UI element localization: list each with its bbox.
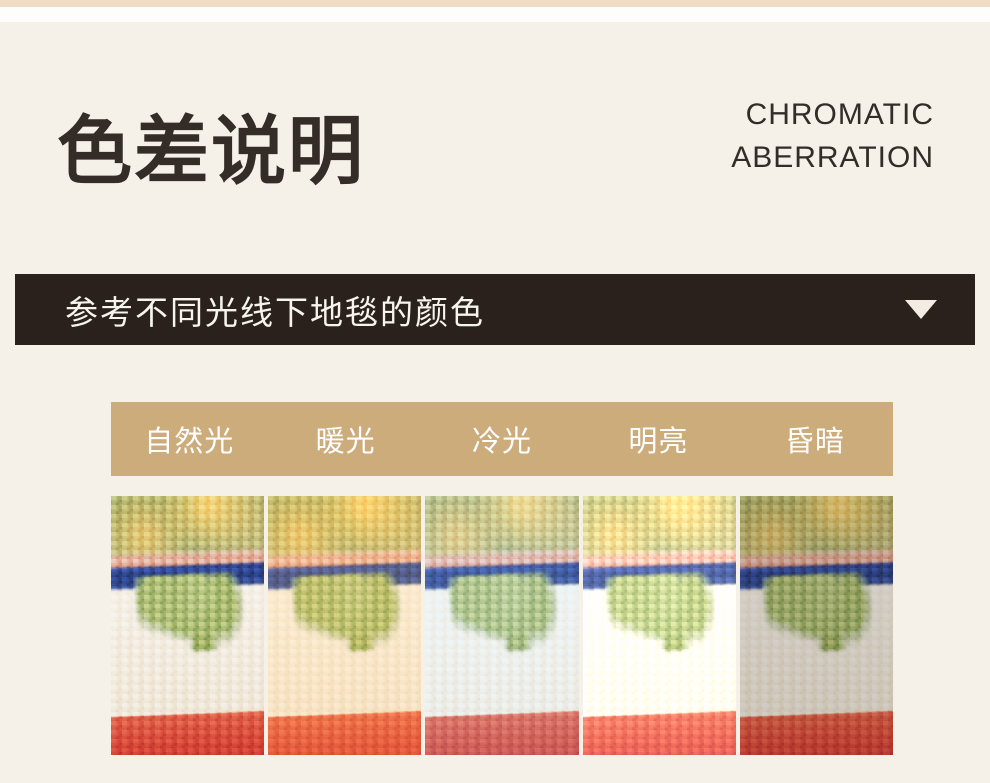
light-condition-label: 暖光 [267, 402, 423, 476]
subtitle-line-1: CHROMATIC [731, 94, 934, 137]
carpet-pile-texture-fine [268, 496, 421, 755]
carpet-image [425, 496, 578, 755]
light-condition-comparison: 自然光暖光冷光明亮昏暗 [111, 402, 893, 755]
light-condition-label-bar: 自然光暖光冷光明亮昏暗 [111, 402, 893, 476]
top-beige-strip [0, 0, 990, 7]
carpet-pile-texture-fine [425, 496, 578, 755]
carpet-photo[interactable] [583, 496, 736, 755]
chromatic-aberration-page: 色差说明 CHROMATIC ABERRATION 参考不同光线下地毯的颜色 自… [0, 0, 990, 783]
carpet-photo[interactable] [740, 496, 893, 755]
carpet-photo-row [111, 496, 893, 755]
light-condition-label: 自然光 [111, 402, 267, 476]
carpet-image [268, 496, 421, 755]
carpet-pile-texture-fine [111, 496, 264, 755]
light-condition-label: 冷光 [424, 402, 580, 476]
carpet-pile-texture-fine [740, 496, 893, 755]
page-header: 色差说明 CHROMATIC ABERRATION [0, 22, 990, 252]
carpet-photo[interactable] [268, 496, 421, 755]
carpet-pile-texture-fine [583, 496, 736, 755]
carpet-image [583, 496, 736, 755]
carpet-image [740, 496, 893, 755]
light-condition-label: 昏暗 [737, 402, 893, 476]
carpet-photo[interactable] [425, 496, 578, 755]
page-subtitle-english: CHROMATIC ABERRATION [731, 94, 934, 179]
section-banner-label: 参考不同光线下地毯的颜色 [65, 286, 485, 334]
page-title: 色差说明 [57, 114, 365, 189]
chevron-down-icon[interactable] [905, 300, 937, 319]
carpet-photo[interactable] [111, 496, 264, 755]
section-banner[interactable]: 参考不同光线下地毯的颜色 [15, 274, 975, 345]
light-condition-label: 明亮 [580, 402, 736, 476]
carpet-image [111, 496, 264, 755]
subtitle-line-2: ABERRATION [731, 137, 934, 180]
top-white-strip [0, 7, 990, 22]
